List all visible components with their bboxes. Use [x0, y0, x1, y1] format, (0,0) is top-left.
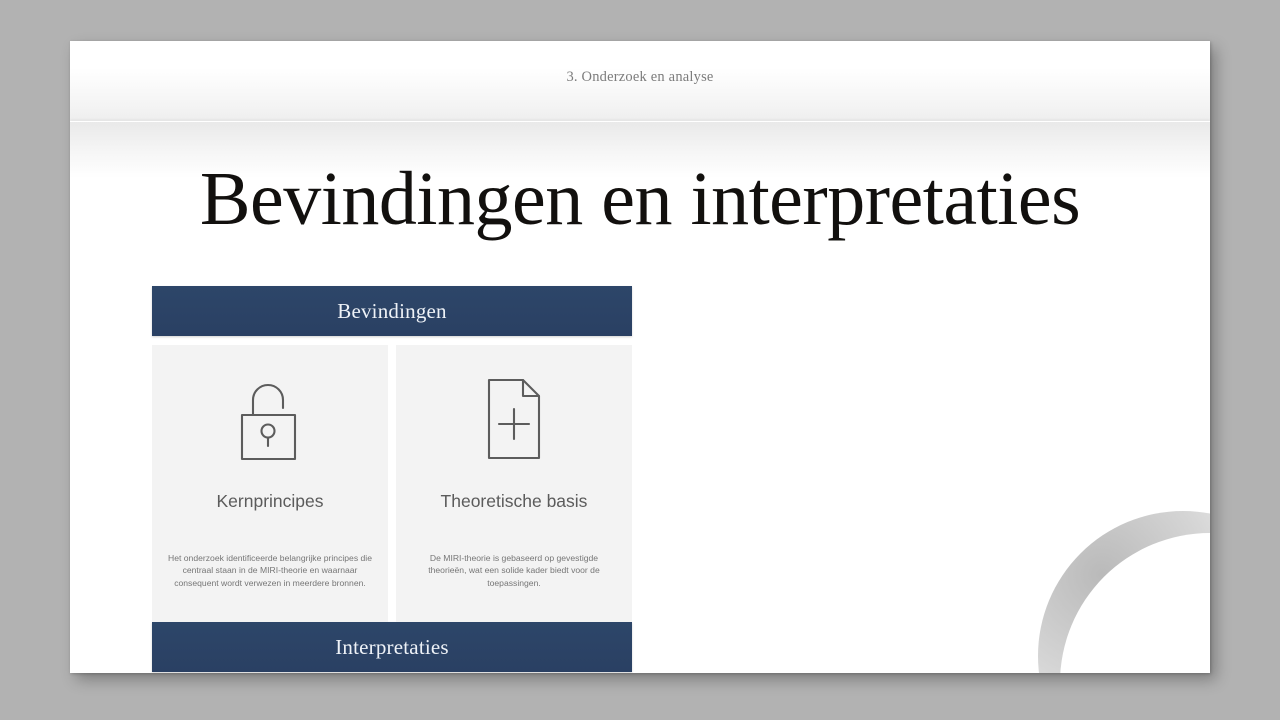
- slide-top-band: 3. Onderzoek en analyse: [70, 41, 1210, 121]
- slide-canvas: 3. Onderzoek en analyse Bevindingen en i…: [70, 41, 1210, 673]
- group-header-bevindingen: Bevindingen: [152, 286, 632, 336]
- page-title: Bevindingen en interpretaties: [70, 158, 1210, 240]
- group-interpretaties: Interpretaties: [152, 622, 632, 673]
- card-theoretische-basis[interactable]: Theoretische basis De MIRI-theorie is ge…: [396, 345, 632, 622]
- cards-bevindingen: Kernprincipes Het onderzoek identificeer…: [152, 345, 632, 622]
- open-padlock-icon: [152, 373, 388, 465]
- group-bevindingen: Bevindingen Kernprincipes Het onderzoek …: [152, 286, 632, 622]
- card-body: Het onderzoek identificeerde belangrijke…: [166, 552, 374, 589]
- section-eyebrow: 3. Onderzoek en analyse: [70, 69, 1210, 86]
- content-columns: Bevindingen Kernprincipes Het onderzoek …: [152, 286, 1128, 673]
- document-plus-icon: [396, 373, 632, 465]
- group-header-interpretaties: Interpretaties: [152, 622, 632, 672]
- card-title: Kernprincipes: [164, 491, 376, 512]
- card-kernprincipes[interactable]: Kernprincipes Het onderzoek identificeer…: [152, 345, 388, 622]
- card-body: De MIRI-theorie is gebaseerd op gevestig…: [410, 552, 618, 589]
- card-title: Theoretische basis: [408, 491, 620, 512]
